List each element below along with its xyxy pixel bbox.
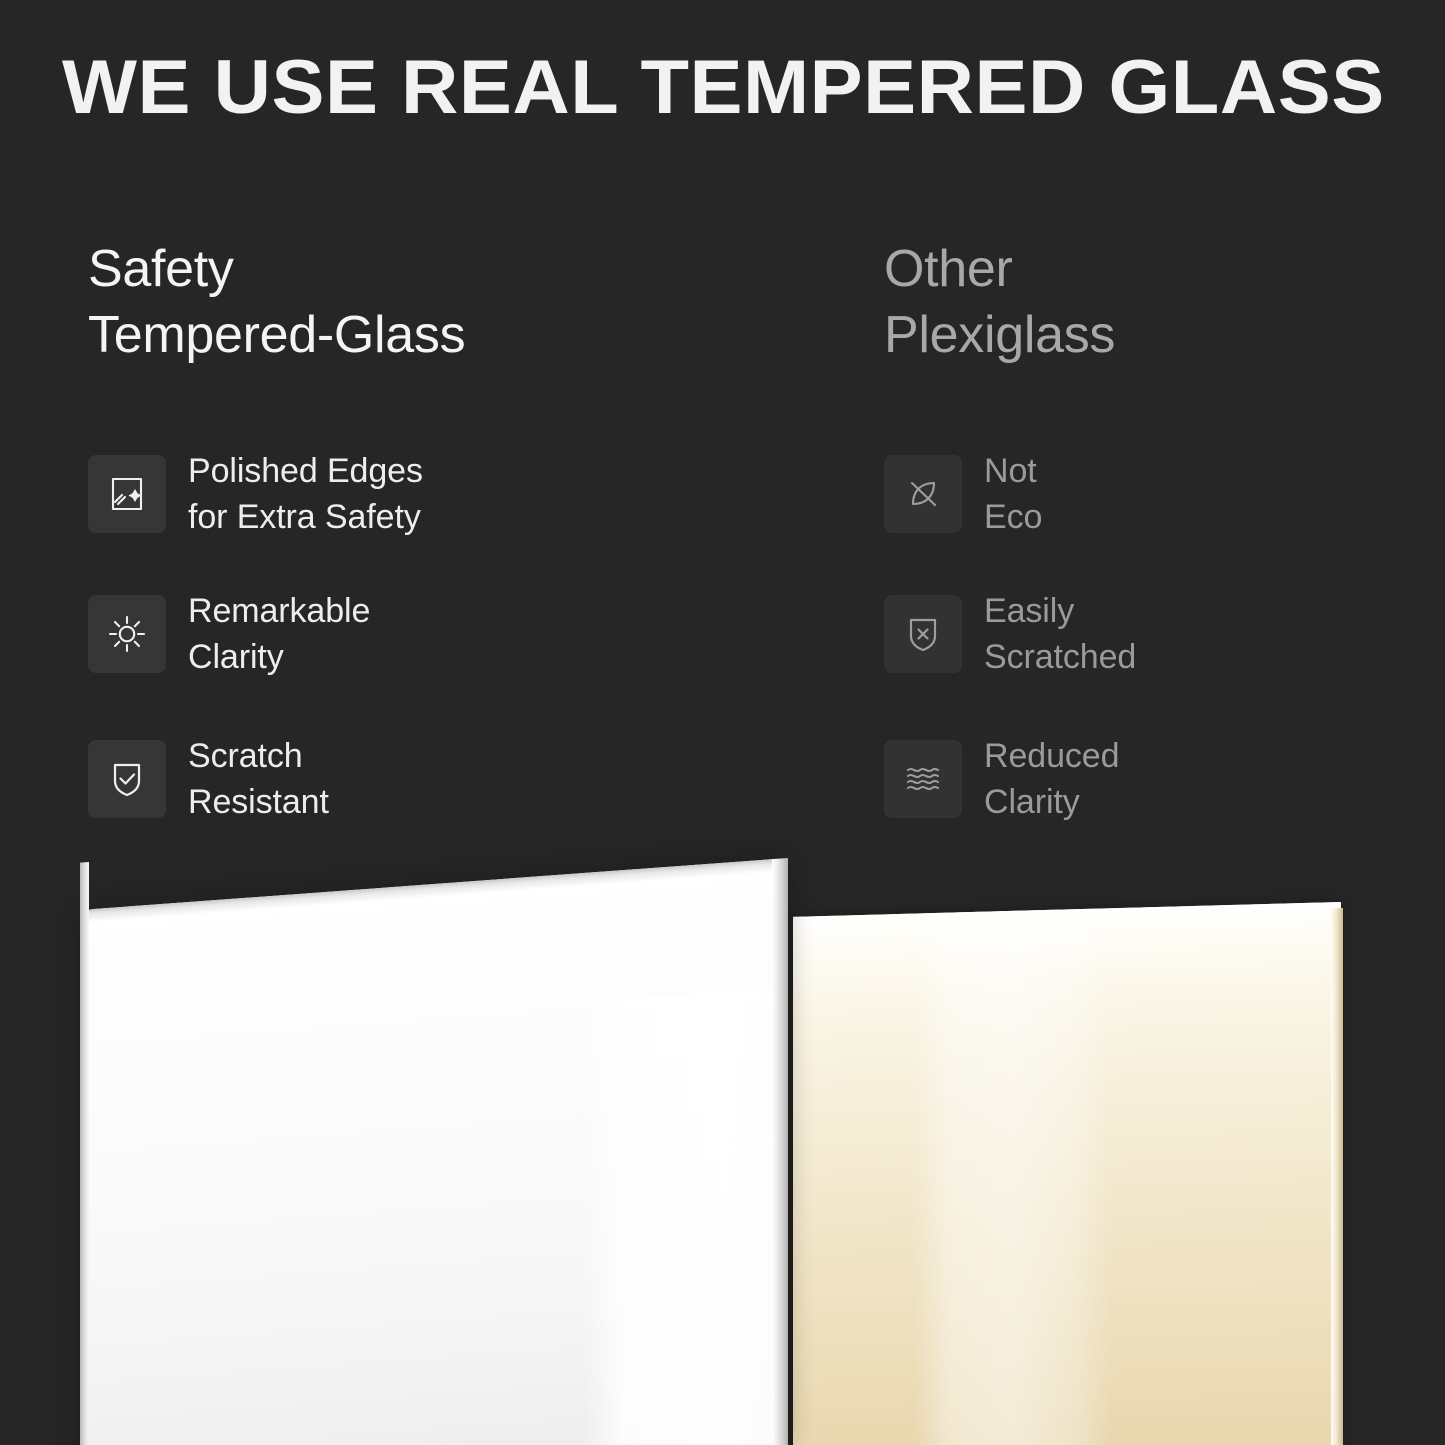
feature-item-easily-scratched: Easily Scratched: [884, 588, 1136, 680]
feature-item-reduced-clarity: Reduced Clarity: [884, 733, 1119, 825]
column-heading-plexiglass: Other Plexiglass: [884, 236, 1424, 368]
page-title: WE USE REAL TEMPERED GLASS: [62, 42, 1445, 134]
clear-tempered-glass-panel: [80, 858, 788, 1445]
polished-glass-pane-icon: [88, 455, 166, 533]
column-heading-tempered-glass: Safety Tempered-Glass: [88, 236, 788, 368]
feature-item-polished-edges: Polished Edges for Extra Safety: [88, 448, 423, 540]
feature-label: Scratch Resistant: [188, 733, 329, 825]
plexiglass-panel-right-edge: [1331, 908, 1343, 1445]
leaf-crossed-out-icon: [884, 455, 962, 533]
product-photo-glass-panels: [0, 840, 1445, 1445]
sun-brightness-icon: [88, 595, 166, 673]
feature-label: Reduced Clarity: [984, 733, 1119, 825]
shield-check-icon: [88, 740, 166, 818]
wavy-lines-distortion-icon: [884, 740, 962, 818]
feature-item-scratch-resistant: Scratch Resistant: [88, 733, 329, 825]
tempered-glass-right-polished-edge: [772, 858, 788, 1445]
feature-label: Easily Scratched: [984, 588, 1136, 680]
feature-label: Remarkable Clarity: [188, 588, 370, 680]
tempered-glass-left-polished-edge: [80, 862, 89, 1445]
column-plexiglass: Other Plexiglass Not Eco: [884, 236, 1424, 368]
feature-item-remarkable-clarity: Remarkable Clarity: [88, 588, 370, 680]
yellowed-plexiglass-panel: [793, 902, 1341, 1445]
infographic-banner: WE USE REAL TEMPERED GLASS Safety Temper…: [0, 0, 1445, 1445]
feature-label: Polished Edges for Extra Safety: [188, 448, 423, 540]
shield-x-icon: [884, 595, 962, 673]
feature-item-not-eco: Not Eco: [884, 448, 1042, 540]
column-tempered-glass: Safety Tempered-Glass Polished Edges for…: [88, 236, 788, 368]
feature-label: Not Eco: [984, 448, 1042, 540]
